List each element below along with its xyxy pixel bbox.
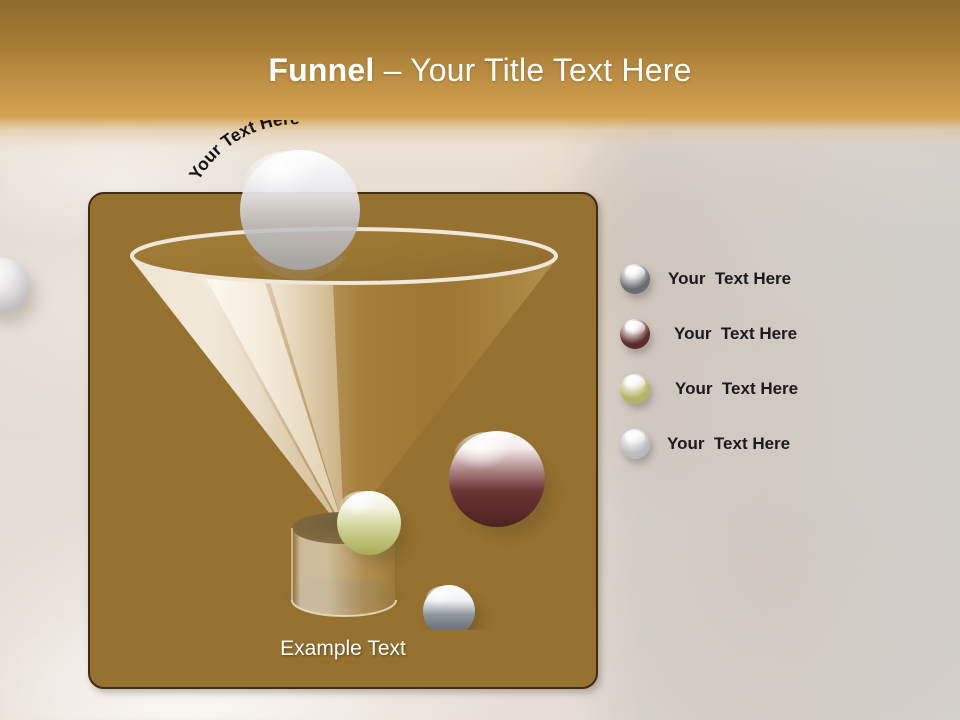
- legend-item-label: Your Text Here: [675, 379, 798, 399]
- legend-item-label: Your Text Here: [667, 434, 790, 454]
- legend-item-2[interactable]: Your Text Here: [620, 313, 940, 355]
- panel-caption: Example Text: [90, 637, 596, 661]
- legend-item-1[interactable]: Your Text Here: [620, 258, 940, 300]
- header-fade: [0, 117, 960, 147]
- legend-bullet-dark-grey-icon: [620, 264, 650, 294]
- arc-annotation-label: Your Text Here: [188, 120, 300, 183]
- legend-item-3[interactable]: Your Text Here: [620, 368, 940, 410]
- legend: Your Text Here Your Text Here Your Text …: [620, 258, 940, 478]
- legend-item-label: Your Text Here: [674, 324, 797, 344]
- legend-item-label: Your Text Here: [668, 269, 791, 289]
- page-title-bold: Funnel: [268, 52, 374, 88]
- legend-bullet-dark-red-icon: [620, 319, 650, 349]
- page-title-rest: – Your Title Text Here: [374, 52, 691, 88]
- slide-canvas: Funnel – Your Title Text Here Example Te…: [0, 0, 960, 720]
- page-title: Funnel – Your Title Text Here: [0, 52, 960, 89]
- legend-bullet-silver-icon: [620, 429, 650, 459]
- legend-item-4[interactable]: Your Text Here: [620, 423, 940, 465]
- content-panel[interactable]: Example Text: [88, 192, 598, 689]
- arc-annotation: Your Text Here: [188, 120, 408, 200]
- legend-bullet-olive-icon: [620, 374, 650, 404]
